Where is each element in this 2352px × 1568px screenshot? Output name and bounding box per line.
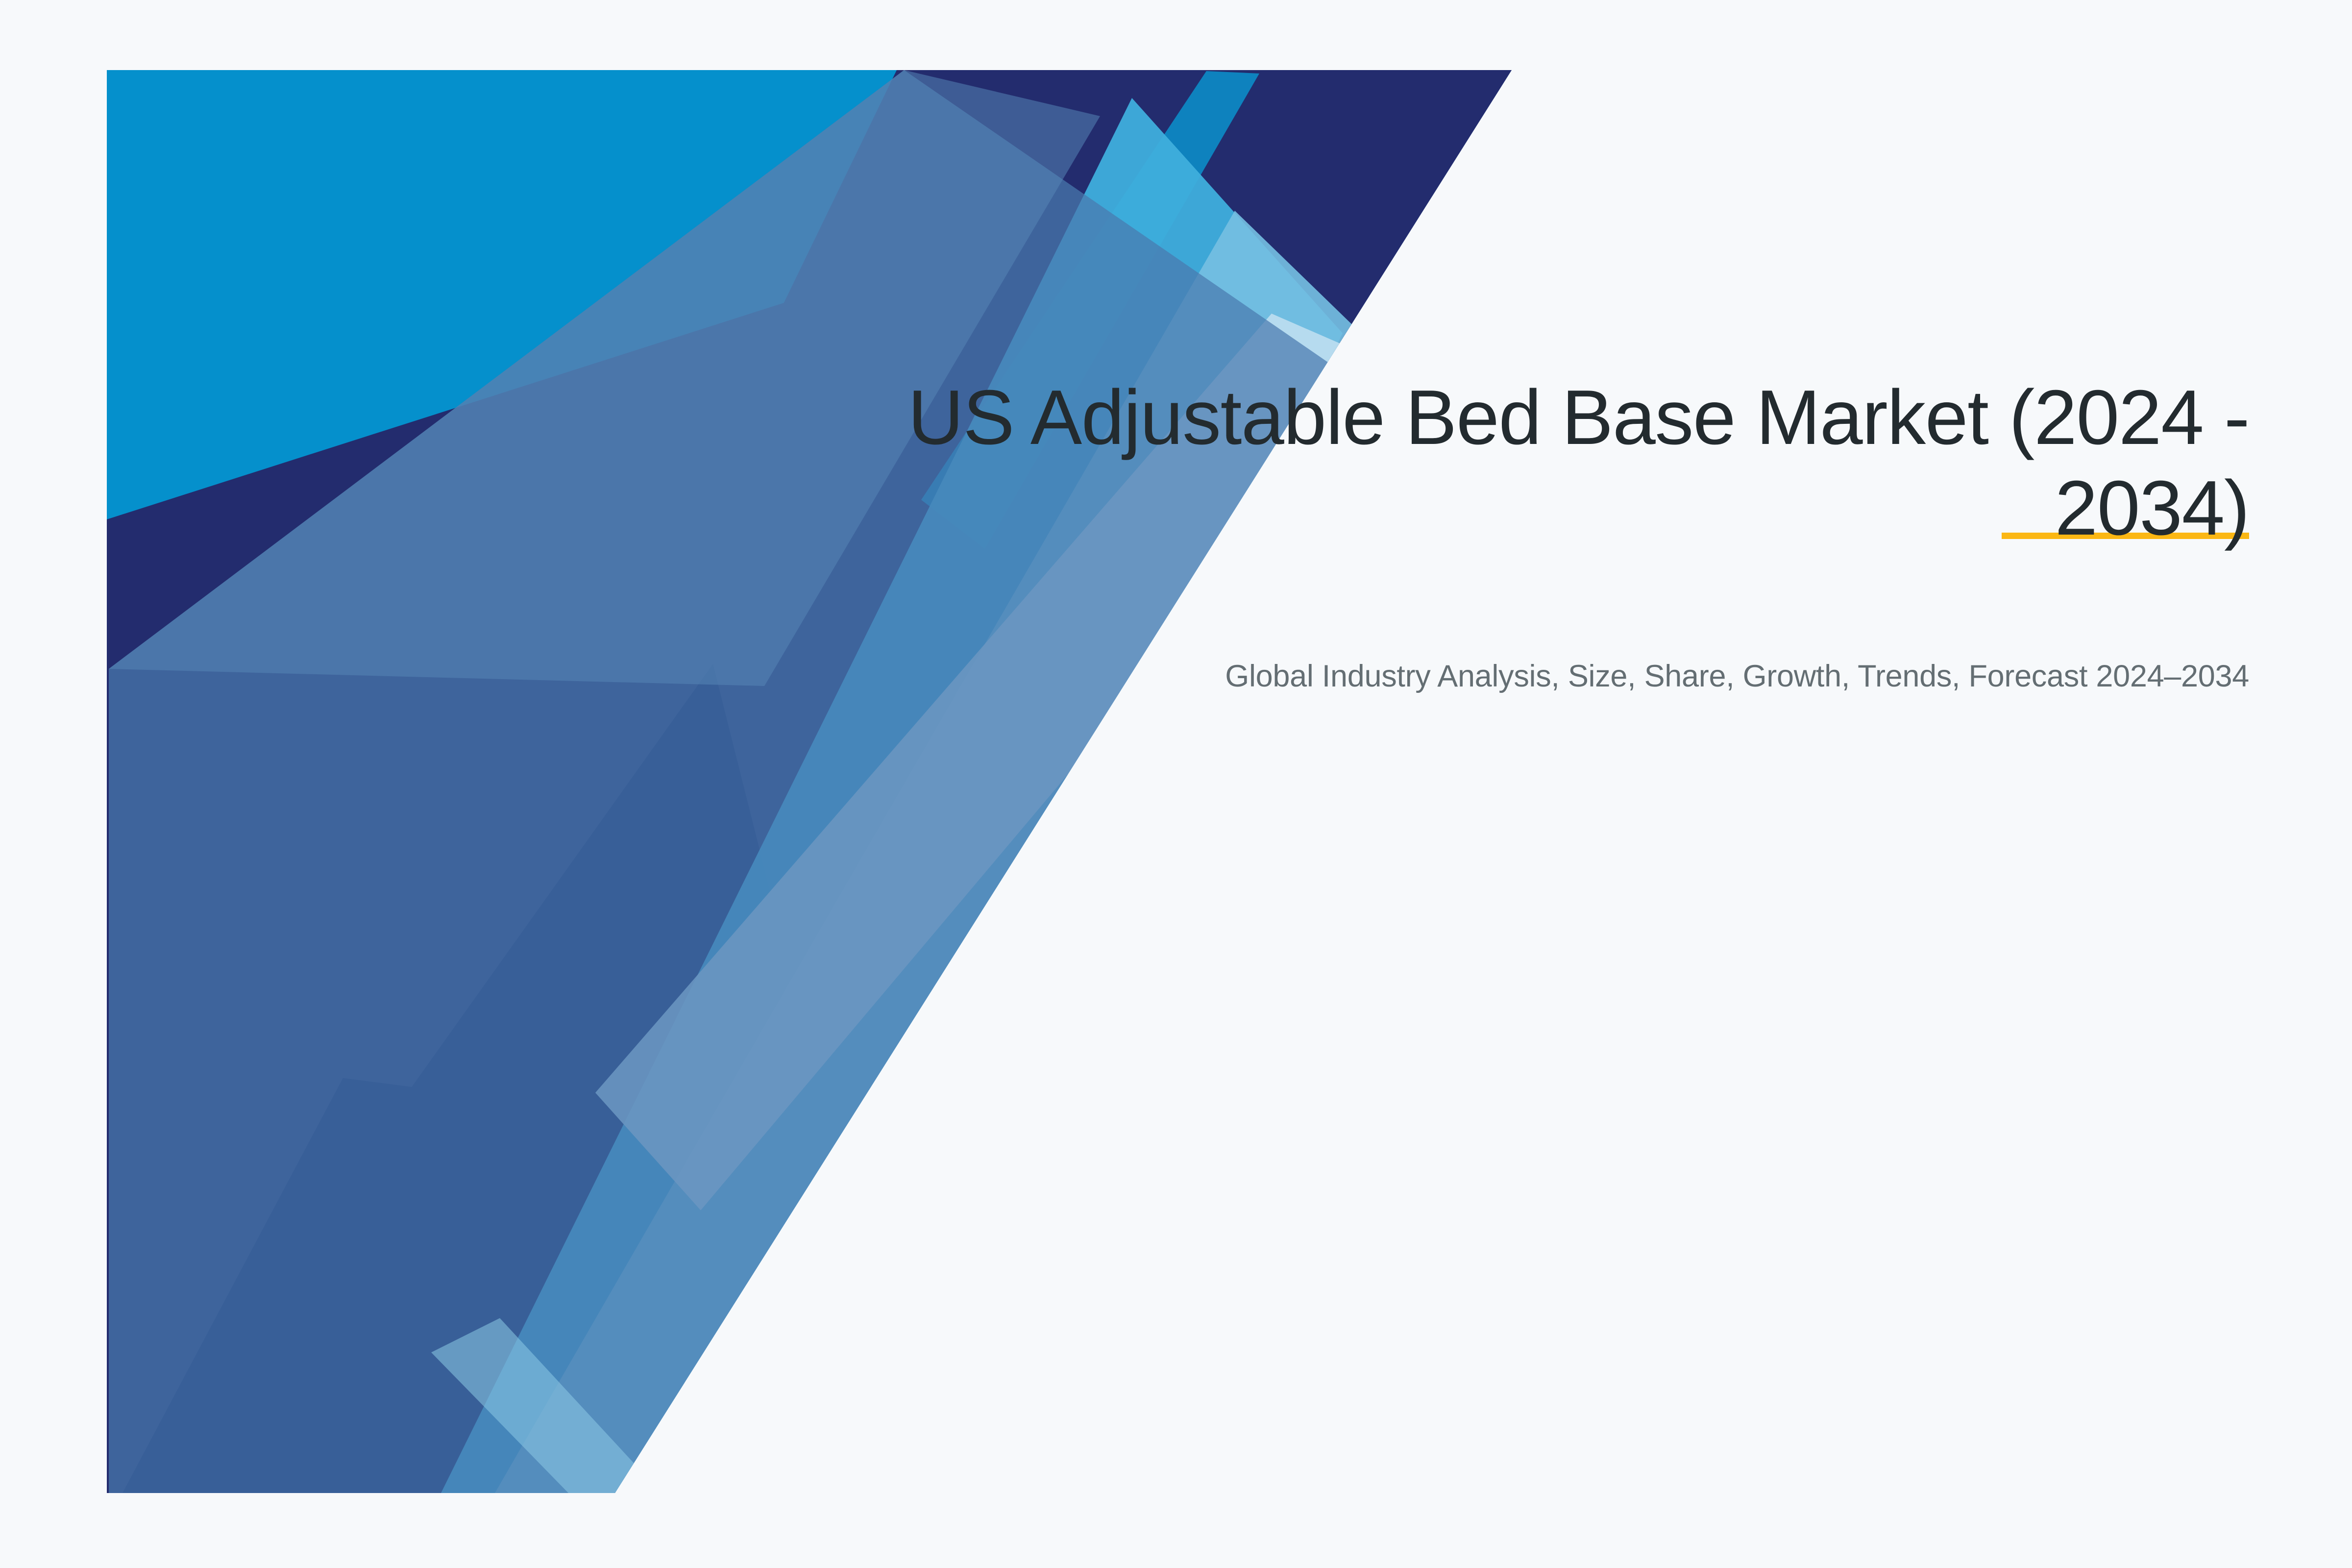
report-subtitle: Global Industry Analysis, Size, Share, G… [823,656,2249,697]
cover-page: US Adjustable Bed Base Market (2024 - 20… [0,0,2352,1568]
shape-cyan-base [107,70,1513,1496]
shape-deep-navy-lower [122,1078,833,1493]
artwork-svg [0,0,2352,1568]
page-title: US Adjustable Bed Base Market (2024 - 20… [823,372,2249,554]
shape-bottom-v-highlight [431,1318,661,1493]
shape-steelblue-overlay [109,70,1343,1493]
abstract-geometric-artwork [0,0,2352,1568]
cover-text-block: US Adjustable Bed Base Market (2024 - 20… [823,372,2249,554]
shape-deep-navy-spike [122,664,833,1493]
shape-navy-wedge [107,70,1512,1493]
shape-midblue-band [441,98,1343,1493]
shape-navy-top [764,70,1512,343]
